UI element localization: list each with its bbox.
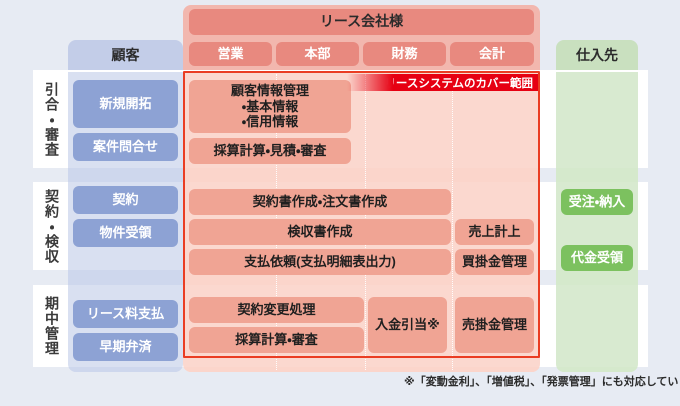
customer-info-line-1: 顧客情報管理 xyxy=(231,83,309,99)
department-honbu: 本部 xyxy=(276,42,359,66)
department-kaikei: 会計 xyxy=(450,42,534,66)
customer-info-line-3: ・信用情報 xyxy=(242,114,298,130)
customer-task-contract[interactable]: 契約 xyxy=(73,186,178,214)
supplier-column-overlay xyxy=(556,72,638,372)
customer-task-inquiry[interactable]: 案件問合せ xyxy=(73,133,178,161)
department-zaimu: 財務 xyxy=(363,42,446,66)
customer-task-lease-payment[interactable]: リース料支払 xyxy=(73,300,178,328)
customer-task-receipt[interactable]: 物件受領 xyxy=(73,219,178,247)
diagram-canvas: リース会社様 営業 本部 財務 会計 顧客 仕入先 引合・審査 契約・検収 期中… xyxy=(0,0,680,406)
stage-label-1: 引合・審査 xyxy=(38,74,66,164)
department-eigyo: 営業 xyxy=(189,42,272,66)
lease-task-sales-recording[interactable]: 売上計上 xyxy=(455,219,534,245)
customer-column-header: 顧客 xyxy=(68,42,183,70)
lease-task-accounts-payable[interactable]: 買掛金管理 xyxy=(455,249,534,275)
customer-task-new-development[interactable]: 新規開拓 xyxy=(73,80,178,128)
supplier-task-payment-receipt[interactable]: 代金受領 xyxy=(561,245,633,271)
customer-task-early-repayment[interactable]: 早期弁済 xyxy=(73,333,178,361)
supplier-task-order-delivery[interactable]: 受注・納入 xyxy=(561,189,633,215)
customer-info-line-2: ・基本情報 xyxy=(242,99,298,115)
lease-task-contract-change[interactable]: 契約変更処理 xyxy=(189,297,364,323)
lease-task-inspection-report[interactable]: 検収書作成 xyxy=(189,219,451,245)
lease-task-contract-order-creation[interactable]: 契約書作成・注文書作成 xyxy=(189,189,451,215)
supplier-column-header: 仕入先 xyxy=(556,42,638,70)
lease-task-accounts-receivable[interactable]: 売掛金管理 xyxy=(455,297,534,353)
footnote-text: ※「変動金利」、「増値税」、「発票管理」にも対応しています。 xyxy=(404,373,680,389)
lease-task-payment-allocation[interactable]: 入金引当※ xyxy=(368,297,447,353)
lease-divider-3 xyxy=(452,74,453,370)
lease-task-payment-request[interactable]: 支払依頼(支払明細表出力) xyxy=(189,249,451,275)
lease-system-coverage-label: リースシステムのカバー範囲 xyxy=(393,74,538,91)
lease-task-customer-info-management[interactable]: 顧客情報管理 ・基本情報 ・信用情報 xyxy=(189,80,351,133)
stage-label-3: 期中管理 xyxy=(38,289,66,363)
lease-company-title: リース会社様 xyxy=(189,9,534,35)
lease-task-profitability-review[interactable]: 採算計算・審査 xyxy=(189,327,364,353)
lease-task-profitability-estimate-review[interactable]: 採算計算・見積・審査 xyxy=(189,138,351,164)
stage-label-2: 契約・検収 xyxy=(38,186,66,266)
